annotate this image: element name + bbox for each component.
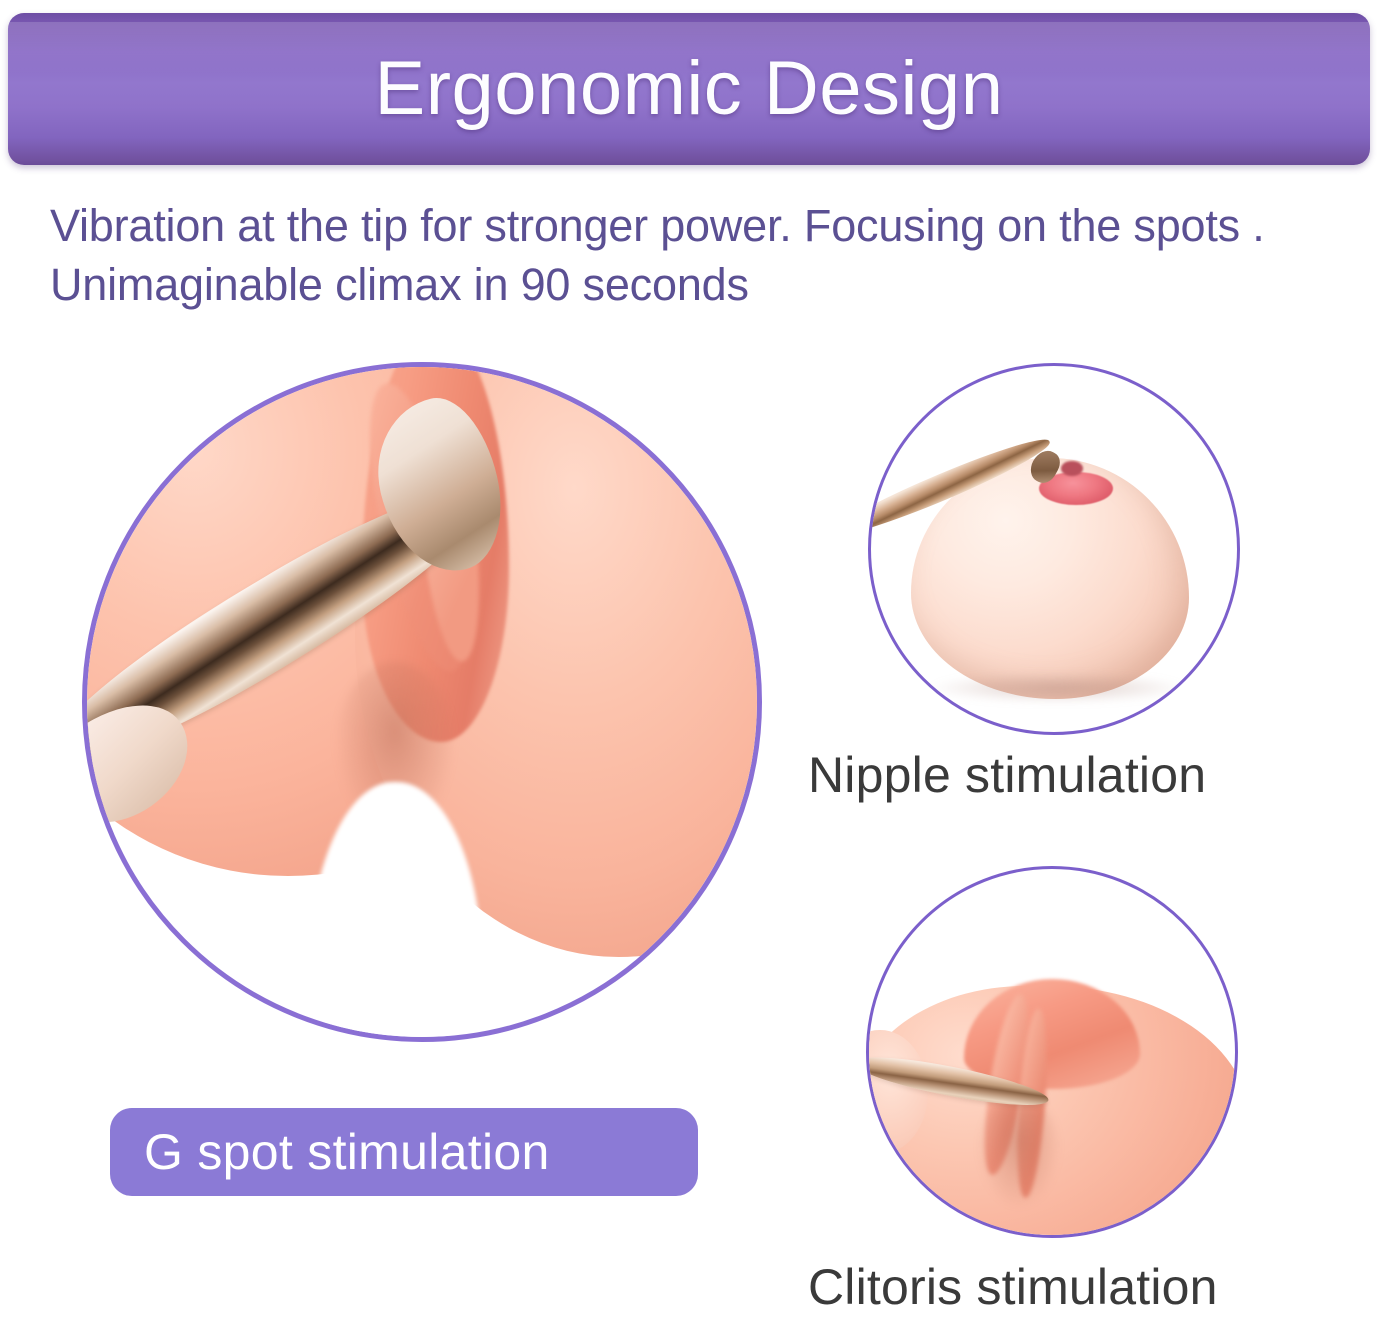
circle-photo-g-spot (82, 362, 762, 1042)
header-banner: Ergonomic Design (8, 13, 1370, 165)
label-pill-g-spot: G spot stimulation (110, 1108, 698, 1196)
label-g-spot: G spot stimulation (144, 1123, 550, 1181)
clitoris-photo (869, 869, 1235, 1235)
circle-photo-clitoris (866, 866, 1238, 1238)
label-nipple: Nipple stimulation (808, 746, 1206, 804)
anatomy-shadow (979, 1096, 1060, 1206)
subtitle-text: Vibration at the tip for stronger power.… (50, 196, 1340, 315)
circle-photo-nipple (868, 363, 1240, 735)
page-title: Ergonomic Design (375, 51, 1004, 127)
nipple-photo (871, 366, 1237, 732)
contact-shadow (930, 673, 1186, 702)
g-spot-photo (87, 367, 757, 1037)
label-clitoris: Clitoris stimulation (808, 1258, 1218, 1316)
nipple-tip (1061, 461, 1083, 476)
infographic-page: Ergonomic Design Vibration at the tip fo… (0, 0, 1378, 1324)
